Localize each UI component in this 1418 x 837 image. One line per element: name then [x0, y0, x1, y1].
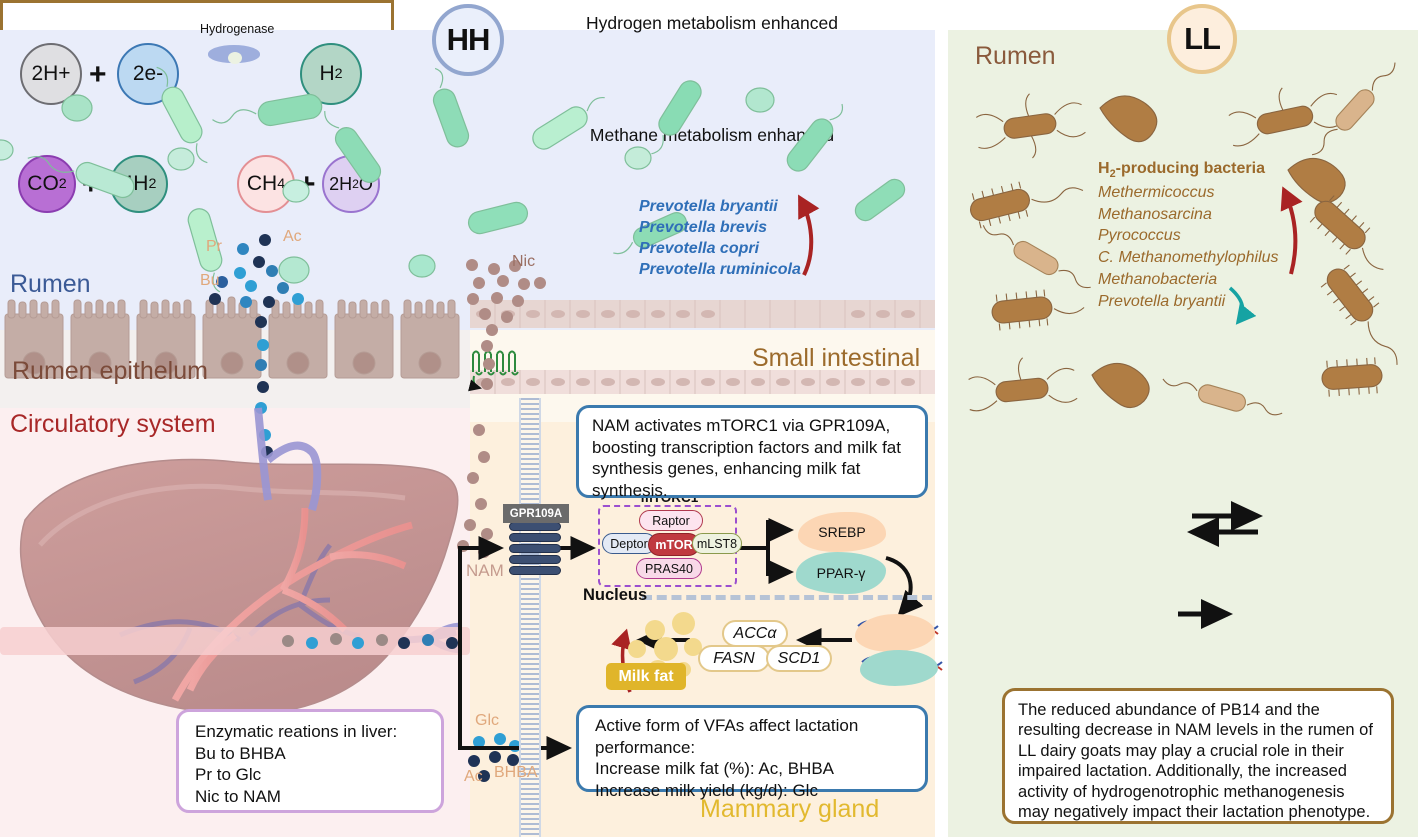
- label-rumen-epithelium: Rumen epithelum: [12, 357, 208, 386]
- plus-sign-methane-products: +: [298, 168, 316, 202]
- gpr109a-receptor-label: GPR109A: [503, 504, 569, 523]
- plus-sign-methane-reactants: +: [82, 168, 100, 202]
- label-nicotinic-acid: Nic: [512, 253, 535, 271]
- methanogen-species-item: C. Methanomethylophilus: [1098, 247, 1279, 269]
- callout-liver-line: Bu to BHBA: [195, 743, 431, 765]
- label-butyrate: Bu: [200, 272, 220, 290]
- callout-liver-line: Nic to NAM: [195, 786, 431, 808]
- mtorc1-complex: mTORC1 Raptor Deptor mTOR mLST8 PRAS40: [598, 505, 737, 587]
- label-acetate-mammary: Ac: [464, 768, 483, 786]
- hydrogenase-enzyme-label: Hydrogenase: [200, 22, 274, 36]
- label-bhba: BHBA: [494, 764, 538, 782]
- molecule-circle-4h2: 4H2: [110, 155, 168, 213]
- label-rumen-hh: Rumen: [10, 270, 91, 299]
- hydrogenase-enzyme-notch: [228, 52, 242, 64]
- methanogen-species-item: Methanobacteria: [1098, 269, 1279, 291]
- molecule-circle-co2: CO2: [18, 155, 76, 213]
- plus-sign-hydrogen: +: [89, 58, 107, 92]
- transcription-factor-srebp: SREBP: [798, 512, 886, 552]
- milk-fat-droplet: [654, 637, 678, 661]
- methanogen-species-item: Prevotella bryantii: [1098, 291, 1279, 313]
- h2-header-post: -producing bacteria: [1116, 160, 1265, 177]
- callout-vfa-line: Active form of VFAs affect lactation: [595, 715, 915, 737]
- label-nam: NAM: [466, 561, 504, 581]
- receptor-coil: [509, 544, 561, 553]
- receptor-coil: [509, 555, 561, 564]
- nuclear-envelope-line: [642, 595, 932, 600]
- label-circulatory-system: Circulatory system: [10, 410, 216, 439]
- gene-scd1: SCD1: [766, 645, 832, 672]
- prevotella-species-item: Prevotella bryantii: [639, 196, 801, 217]
- methane-metabolism-title: Methane metabolism enhanced: [3, 125, 1418, 146]
- molecule-circle-2h-plus: 2H+: [20, 43, 82, 105]
- receptor-coil: [509, 533, 561, 542]
- callout-nam-mtorc1: NAM activates mTORC1 via GPR109A, boosti…: [576, 405, 928, 498]
- callout-vfa-line: Increase milk yield (kg/d): Glc: [595, 780, 915, 802]
- figure-canvas: HH LL Rumen Rumen epithelum Circulatory …: [0, 0, 1418, 837]
- h2-producing-bacteria-header: H2-producing bacteria: [1098, 158, 1279, 182]
- milk-fat-droplet: [628, 640, 646, 658]
- callout-liver-line: Enzymatic reations in liver:: [195, 721, 431, 743]
- label-glucose: Glc: [475, 712, 499, 730]
- subunit-mlst8: mLST8: [692, 533, 742, 554]
- callout-liver-enzymatic-reactions: Enzymatic reations in liver: Bu to BHBA …: [176, 709, 444, 813]
- receptor-coil: [509, 522, 561, 531]
- label-small-intestinal: Small intestinal: [752, 344, 920, 373]
- receptor-coil: [509, 566, 561, 575]
- prevotella-species-list: Prevotella bryantii Prevotella brevis Pr…: [639, 196, 801, 280]
- molecule-circle-2e-minus: 2e-: [117, 43, 179, 105]
- label-acetate: Ac: [283, 228, 302, 246]
- milk-fat-droplet: [672, 612, 695, 635]
- molecule-circle-ch4: CH4: [237, 155, 295, 213]
- nucleus-label: Nucleus: [583, 586, 647, 605]
- subunit-raptor: Raptor: [639, 510, 703, 531]
- badge-ll: LL: [1167, 4, 1237, 74]
- methanogen-species-item: Methermicoccus: [1098, 182, 1279, 204]
- subunit-pras40: PRAS40: [636, 558, 702, 579]
- methanogen-species-list: H2-producing bacteria Methermicoccus Met…: [1098, 158, 1279, 312]
- h2-header-pre: H: [1098, 160, 1110, 177]
- prevotella-species-item: Prevotella brevis: [639, 217, 801, 238]
- molecule-circle-h2: H2: [300, 43, 362, 105]
- prevotella-species-item: Prevotella ruminicola: [639, 259, 801, 280]
- molecule-circle-2h2o: 2H2O: [322, 155, 380, 213]
- callout-vfa-line: Increase milk fat (%): Ac, BHBA: [595, 758, 915, 780]
- milk-fat-label: Milk fat: [606, 663, 686, 690]
- callout-ll-summary: The reduced abundance of PB14 and the re…: [1002, 688, 1394, 824]
- transcription-factor-ppar-gamma: PPAR-γ: [796, 552, 886, 594]
- methanogen-species-item: Methanosarcina: [1098, 204, 1279, 226]
- callout-vfa-lactation: Active form of VFAs affect lactation per…: [576, 705, 928, 792]
- label-propionate: Pr: [206, 238, 222, 256]
- prevotella-species-item: Prevotella copri: [639, 238, 801, 259]
- methanogen-species-item: Pyrococcus: [1098, 225, 1279, 247]
- badge-hh: HH: [432, 4, 504, 76]
- label-rumen-ll: Rumen: [975, 42, 1056, 71]
- callout-liver-line: Pr to Glc: [195, 764, 431, 786]
- gene-acca: ACCα: [722, 620, 788, 647]
- callout-vfa-line: performance:: [595, 737, 915, 759]
- gene-fasn: FASN: [698, 645, 770, 672]
